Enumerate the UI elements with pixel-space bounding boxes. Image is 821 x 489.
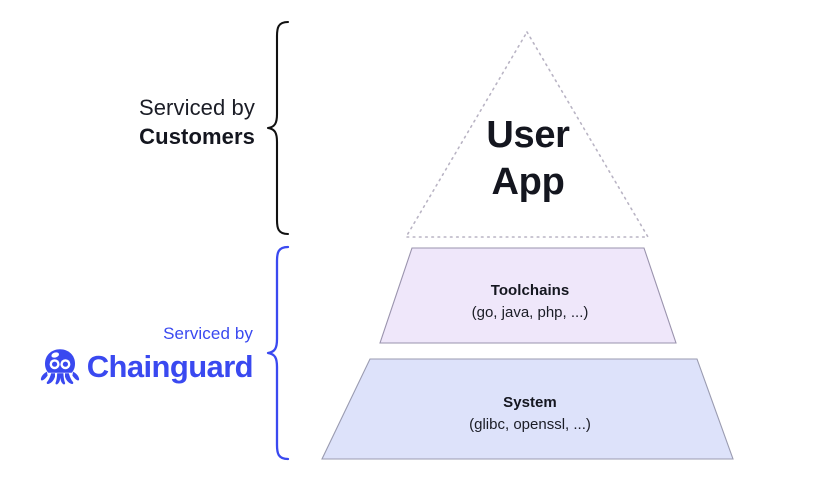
brace-chainguard [268, 247, 288, 459]
legend-chainguard-prefix: Serviced by [0, 324, 255, 344]
toolchains-trapezoid [380, 248, 676, 343]
stack-responsibility-diagram: Serviced by Customers Serviced by [0, 0, 821, 489]
brace-customers [268, 22, 288, 234]
legend-customers-prefix: Serviced by [0, 93, 255, 122]
legend-customers-name: Customers [0, 122, 255, 151]
system-trapezoid [322, 359, 733, 459]
legend-chainguard: Serviced by [0, 324, 255, 385]
octopus-icon [40, 347, 80, 385]
legend-customers: Serviced by Customers [0, 93, 255, 151]
user-app-triangle [406, 32, 648, 237]
chainguard-wordmark: Chainguard [87, 351, 253, 382]
pyramid-graphics [0, 0, 821, 489]
chainguard-logo: Chainguard [0, 347, 255, 385]
